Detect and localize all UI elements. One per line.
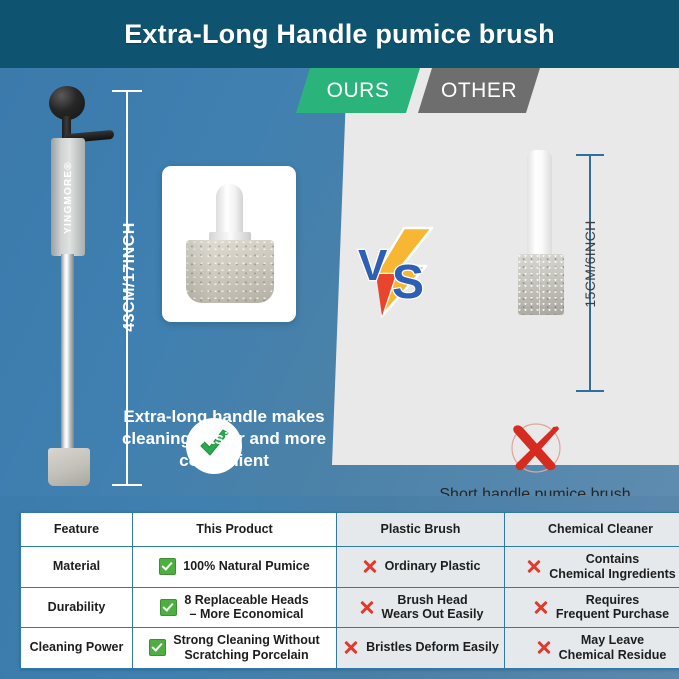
header-feature: Feature: [21, 513, 133, 547]
dimension-cap-bottom: [576, 390, 604, 392]
check-icon: [159, 558, 176, 575]
check-icon: [149, 639, 166, 656]
cell-text: 100% Natural Pumice: [183, 559, 309, 574]
dimension-cap-bottom: [112, 484, 142, 486]
cell-plastic-brush: Ordinary Plastic: [337, 547, 505, 588]
cell-feature: Cleaning Power: [21, 628, 133, 669]
cross-icon: [525, 558, 542, 575]
svg-text:S: S: [392, 256, 424, 309]
ours-caption: Extra-long handle makes cleaning easier …: [104, 406, 344, 471]
cross-icon: [361, 558, 378, 575]
banner-other-label: OTHER: [441, 79, 517, 103]
cell-text: Bristles Deform Easily: [366, 640, 499, 655]
cell-text: Brush HeadWears Out Easily: [382, 593, 484, 623]
cell-plastic-brush: Bristles Deform Easily: [337, 628, 505, 669]
cell-feature: Durability: [21, 587, 133, 628]
cell-text: ContainsChemical Ingredients: [549, 552, 675, 582]
short-brush-pumice-head: [518, 254, 564, 315]
cell-chemical-cleaner: May LeaveChemical Residue: [505, 628, 679, 669]
table-row: Cleaning Power Strong Cleaning WithoutSc…: [21, 628, 679, 669]
check-icon: [160, 599, 177, 616]
cell-text: Ordinary Plastic: [385, 559, 481, 574]
other-dimension-line: 15CM/6INCH: [576, 154, 604, 392]
long-handle-brush-image: YINGMORE®: [33, 86, 107, 486]
cell-plastic-brush: Brush HeadWears Out Easily: [337, 587, 505, 628]
cross-icon: [535, 639, 552, 656]
header-chemical-cleaner: Chemical Cleaner: [505, 513, 679, 547]
other-caption: Short handle pumice brush: [385, 486, 679, 496]
other-dimension-label: 15CM/6INCH: [582, 206, 598, 322]
header-bar: Extra-Long Handle pumice brush: [0, 0, 679, 68]
header-plastic-brush: Plastic Brush: [337, 513, 505, 547]
cell-text: May LeaveChemical Residue: [559, 633, 667, 663]
product-closeup-card: [162, 166, 296, 322]
short-handle-brush-image: [515, 150, 567, 315]
red-cross-icon: [505, 420, 567, 476]
versus-badge: V S: [352, 226, 444, 318]
cell-chemical-cleaner: RequiresFrequent Purchase: [505, 587, 679, 628]
short-brush-handle: [527, 150, 552, 262]
brand-label: YINGMORE®: [63, 161, 74, 234]
banner-ours-tab: OURS: [296, 68, 420, 113]
comparison-stage: OURS OTHER YINGMORE® 43CM/17INCH: [0, 68, 679, 496]
closeup-pumice-stone: [186, 240, 274, 303]
closeup-cap: [216, 184, 243, 236]
cross-icon: [358, 599, 375, 616]
cell-this-product: Strong Cleaning WithoutScratching Porcel…: [133, 628, 337, 669]
cell-text: Strong Cleaning WithoutScratching Porcel…: [173, 633, 319, 663]
page-title: Extra-Long Handle pumice brush: [124, 19, 555, 50]
cell-this-product: 8 Replaceable Heads– More Economical: [133, 587, 337, 628]
header-this-product: This Product: [133, 513, 337, 547]
cell-text: RequiresFrequent Purchase: [556, 593, 669, 623]
banner-ours-label: OURS: [327, 79, 390, 103]
table-header-row: Feature This Product Plastic Brush Chemi…: [21, 513, 679, 547]
brush-pumice-head: [48, 448, 90, 486]
cell-chemical-cleaner: ContainsChemical Ingredients: [505, 547, 679, 588]
comparison-table: Feature This Product Plastic Brush Chemi…: [20, 512, 679, 669]
cell-text: 8 Replaceable Heads– More Economical: [184, 593, 308, 623]
cross-icon: [342, 639, 359, 656]
svg-text:V: V: [358, 241, 388, 290]
banner-other-tab: OTHER: [418, 68, 540, 113]
ours-dimension-label: 43CM/17INCH: [121, 217, 139, 337]
product-infographic: Extra-Long Handle pumice brush OURS OTHE…: [0, 0, 679, 679]
brush-rod: [61, 254, 74, 454]
table-row: Durability 8 Replaceable Heads– More Eco…: [21, 587, 679, 628]
table-row: Material 100% Natural Pumice Ordinary Pl…: [21, 547, 679, 588]
cell-this-product: 100% Natural Pumice: [133, 547, 337, 588]
cross-icon: [532, 599, 549, 616]
brush-knob: [49, 86, 85, 120]
cell-feature: Material: [21, 547, 133, 588]
brand-logo: YINGMORE®: [51, 138, 85, 256]
